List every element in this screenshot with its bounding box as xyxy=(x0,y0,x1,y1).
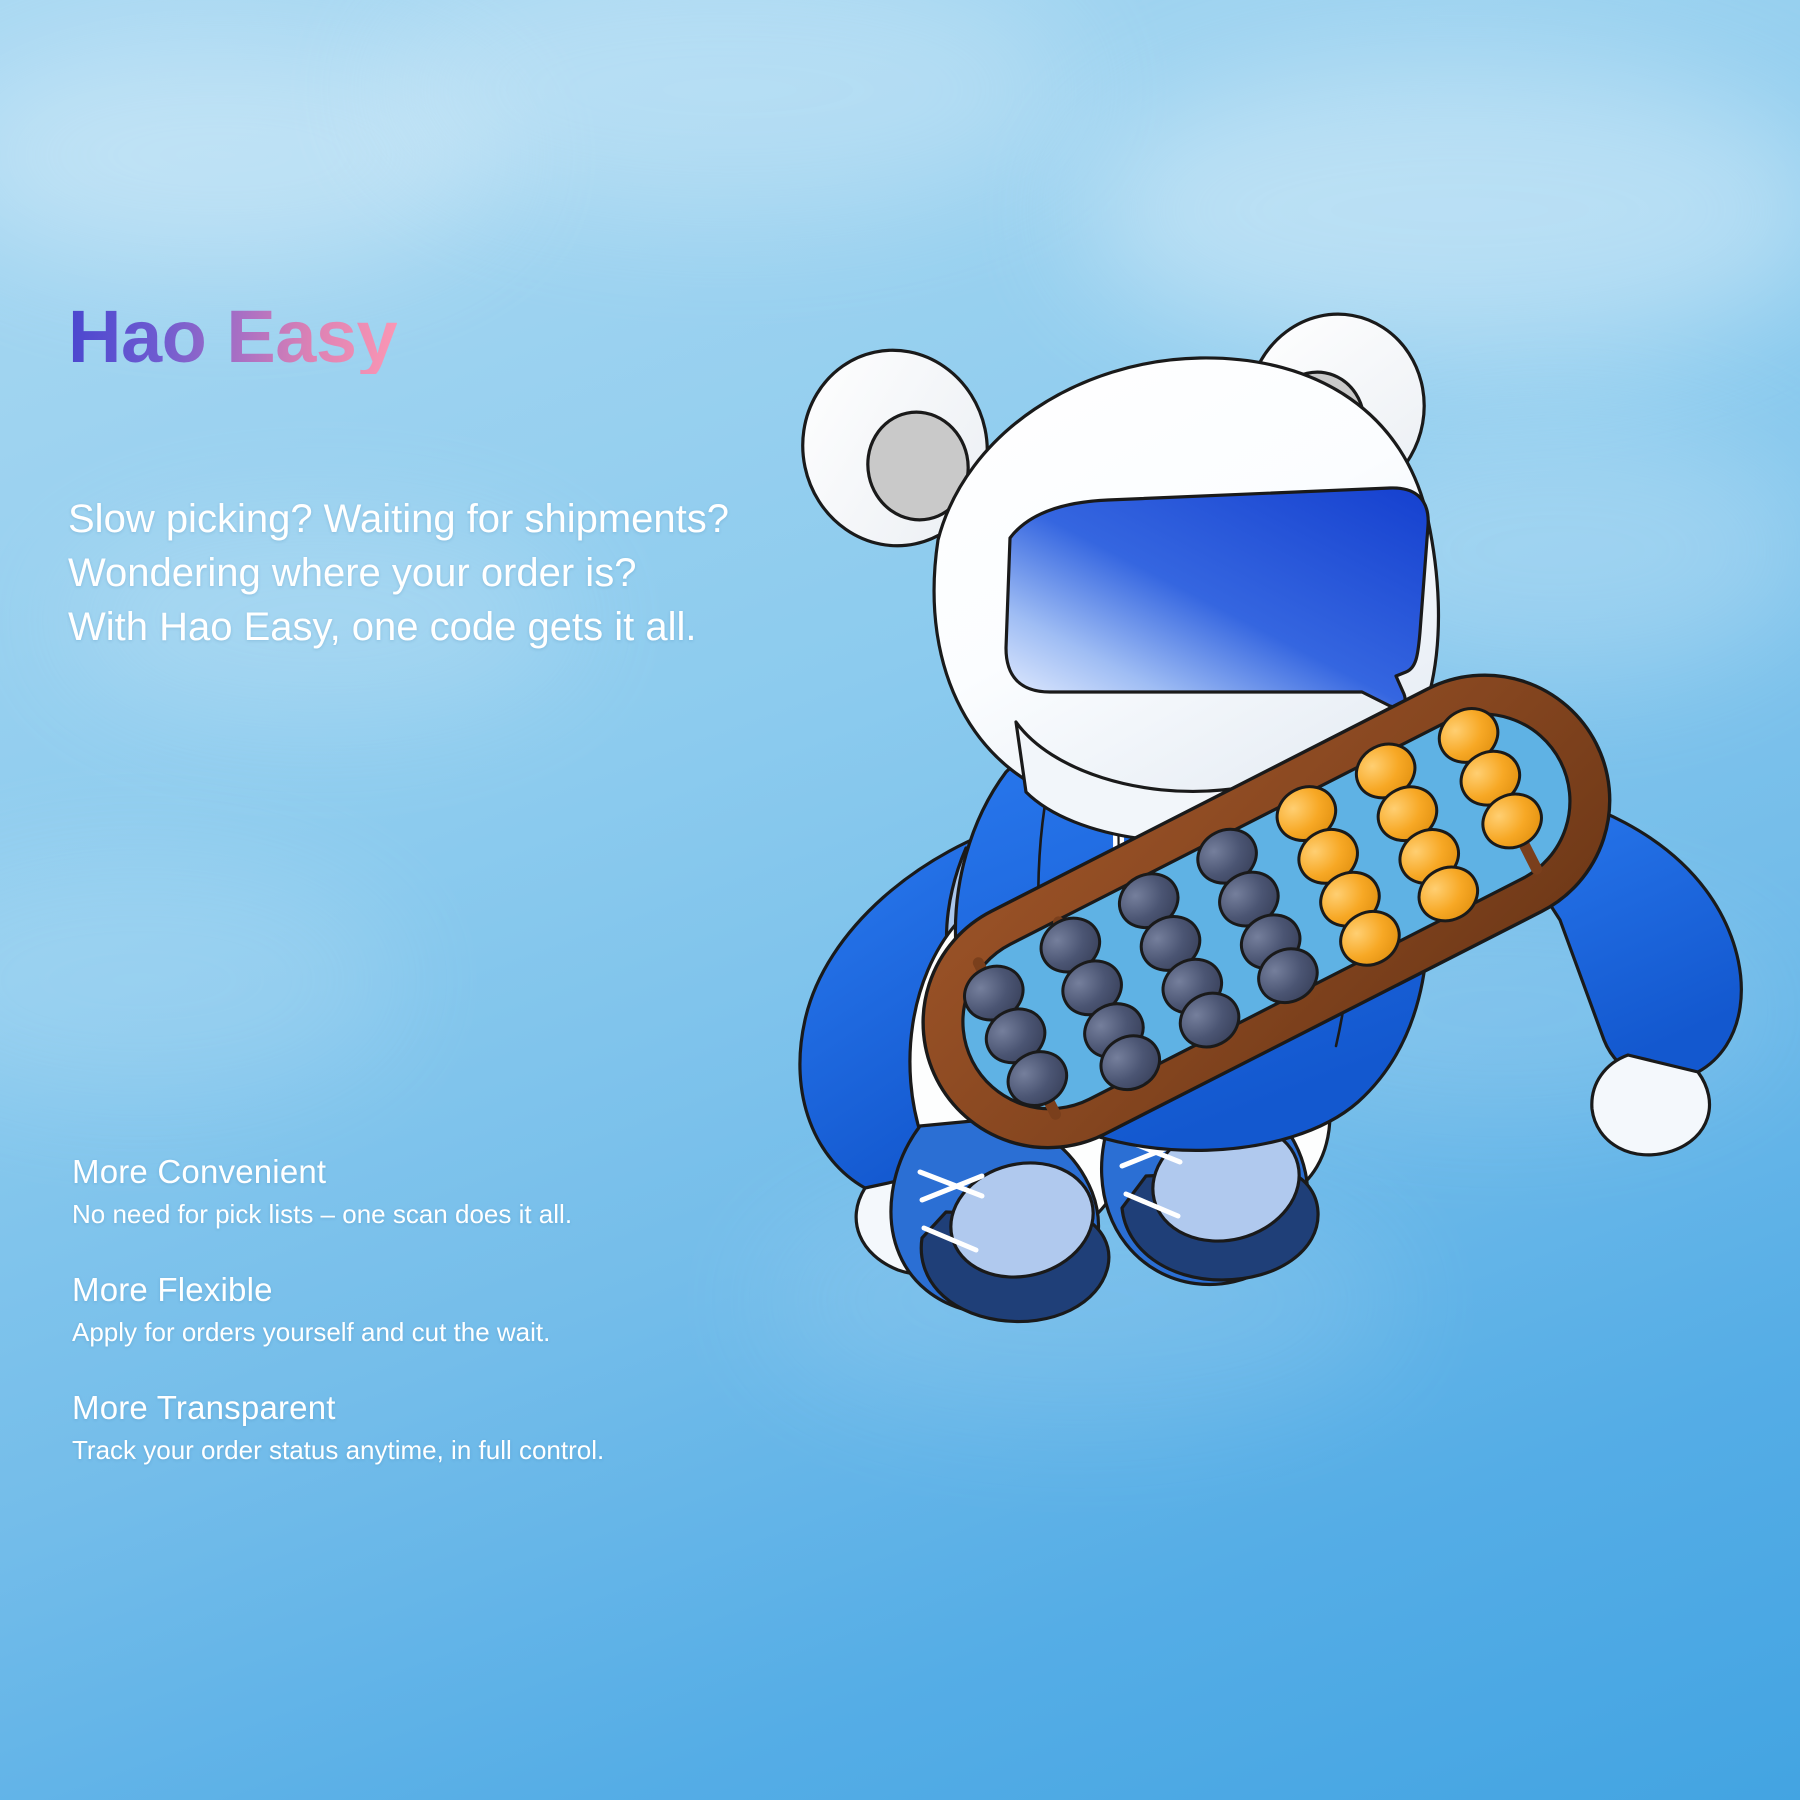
bear-astronaut-mascot xyxy=(770,320,1800,1420)
brand-title: Hao Easy xyxy=(68,300,397,374)
lede-line-2: Wondering where your order is? xyxy=(68,546,729,600)
feature-description: No need for pick lists – one scan does i… xyxy=(72,1196,832,1232)
lede-paragraph: Slow picking? Waiting for shipments? Won… xyxy=(68,492,729,654)
text-column: Hao Easy Slow picking? Waiting for shipm… xyxy=(68,0,888,1800)
feature-item: More Flexible Apply for orders yourself … xyxy=(72,1270,832,1350)
poster-canvas: Hao Easy Slow picking? Waiting for shipm… xyxy=(0,0,1800,1800)
feature-list: More Convenient No need for pick lists –… xyxy=(72,1152,832,1468)
lede-line-1: Slow picking? Waiting for shipments? xyxy=(68,492,729,546)
feature-title: More Convenient xyxy=(72,1152,832,1192)
feature-item: More Transparent Track your order status… xyxy=(72,1388,832,1468)
feature-title: More Transparent xyxy=(72,1388,832,1428)
feature-description: Track your order status anytime, in full… xyxy=(72,1432,832,1468)
mascot-illustration xyxy=(770,320,1800,1420)
feature-item: More Convenient No need for pick lists –… xyxy=(72,1152,832,1232)
feature-title: More Flexible xyxy=(72,1270,832,1310)
lede-line-3: With Hao Easy, one code gets it all. xyxy=(68,600,729,654)
cloud-wisp xyxy=(1080,60,1800,360)
feature-description: Apply for orders yourself and cut the wa… xyxy=(72,1314,832,1350)
